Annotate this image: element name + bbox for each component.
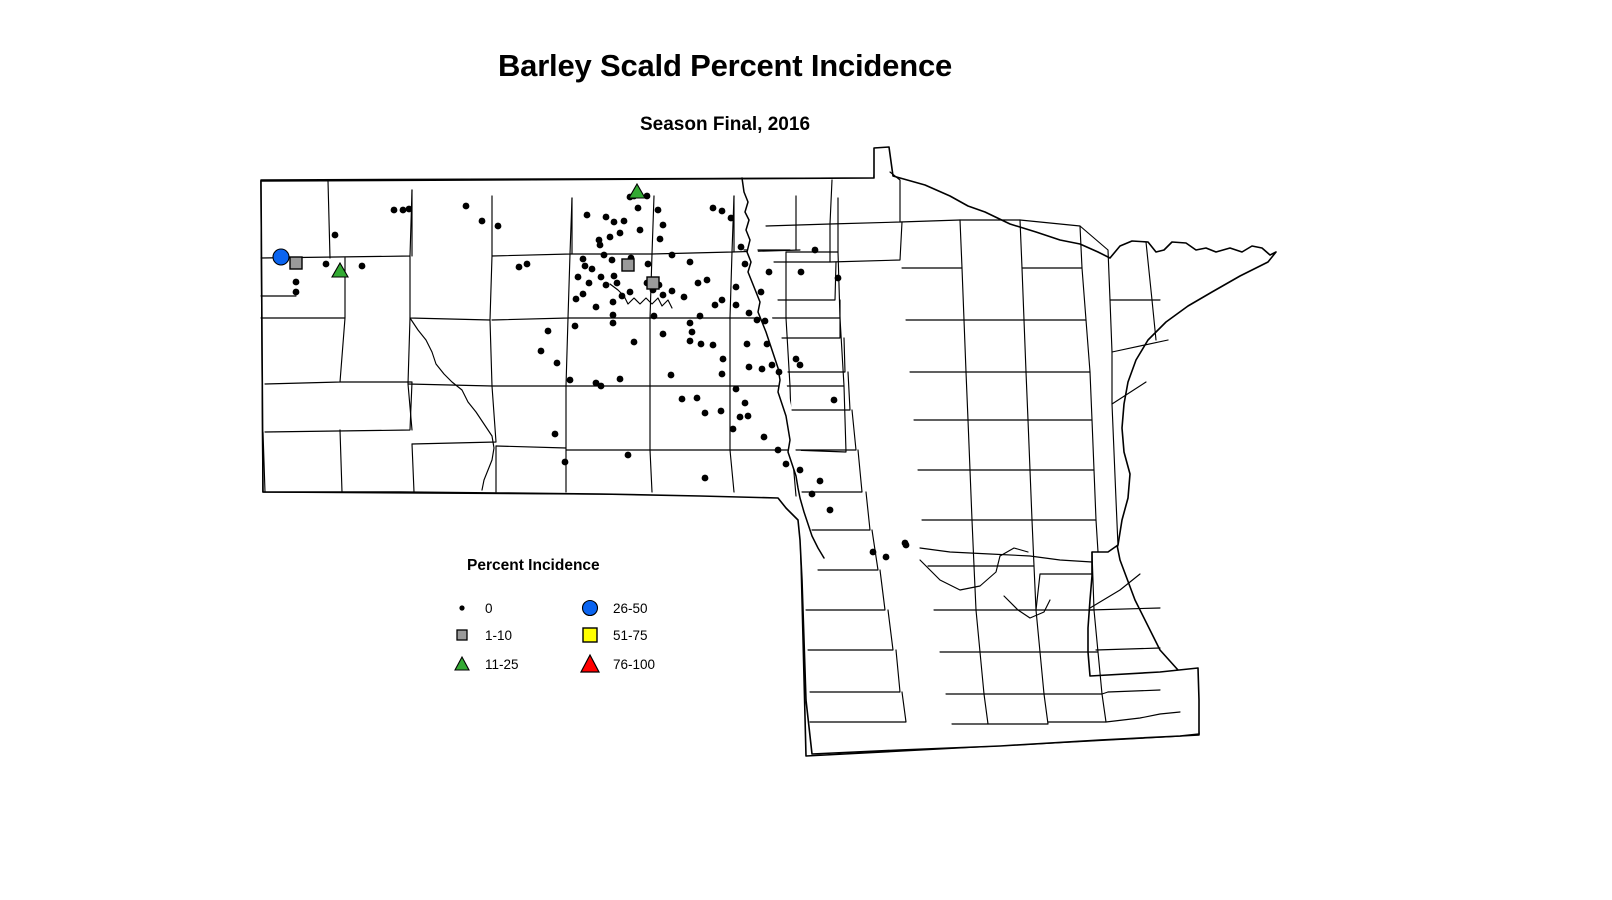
map-point-0: [728, 215, 735, 222]
map-point-0: [687, 338, 694, 345]
map-point-26-50: [273, 249, 289, 265]
map-point-0: [681, 294, 688, 301]
legend-item-26-50: 26-50: [577, 598, 648, 618]
map-point-0: [668, 372, 675, 379]
map-point-0: [538, 348, 545, 355]
legend-item-0: 0: [449, 598, 493, 618]
map-point-0: [603, 282, 610, 289]
map-point-0: [733, 302, 740, 309]
map-point-0: [627, 289, 634, 296]
map-point-0: [593, 304, 600, 311]
map-point-0: [783, 461, 790, 468]
map-point-0: [759, 366, 766, 373]
map-point-0: [745, 413, 752, 420]
map-point-0: [293, 279, 300, 286]
map-point-0: [710, 342, 717, 349]
map-point-0: [323, 261, 330, 268]
map-point-0: [797, 362, 804, 369]
map-point-0: [766, 269, 773, 276]
legend-label-51-75: 51-75: [613, 628, 648, 643]
map-point-0: [596, 237, 603, 244]
legend-item-76-100: 76-100: [577, 654, 655, 674]
map-point-0: [552, 431, 559, 438]
map-point-0: [611, 219, 618, 226]
map-point-0: [332, 232, 339, 239]
map-point-0: [687, 320, 694, 327]
map-point-0: [831, 397, 838, 404]
map-point-0: [704, 277, 711, 284]
map-point-0: [621, 218, 628, 225]
map-point-0: [903, 542, 910, 549]
legend-label-76-100: 76-100: [613, 657, 655, 672]
map-point-0: [793, 356, 800, 363]
map-point-0: [720, 356, 727, 363]
map-point-0: [586, 280, 593, 287]
legend-swatch-gray-square: [449, 625, 475, 645]
map-point-0: [817, 478, 824, 485]
map-point-0: [610, 320, 617, 327]
map-point-0: [293, 289, 300, 296]
map-point-0: [758, 289, 765, 296]
map-point-0: [762, 318, 769, 325]
map-point-0: [562, 459, 569, 466]
map-point-0: [607, 234, 614, 241]
legend-swatch-yellow-square: [577, 623, 603, 647]
map-page: Barley Scald Percent Incidence Season Fi…: [0, 0, 1612, 900]
map-point-0: [463, 203, 470, 210]
map-point-0: [614, 280, 621, 287]
map-point-0: [746, 310, 753, 317]
map-point-0: [479, 218, 486, 225]
map-point-0: [809, 491, 816, 498]
map-point-0: [359, 263, 366, 270]
legend-item-11-25: 11-25: [449, 654, 519, 674]
map-point-0: [737, 414, 744, 421]
map-point-0: [582, 263, 589, 270]
map-point-0: [631, 339, 638, 346]
map-point-0: [657, 236, 664, 243]
map-point-0: [719, 297, 726, 304]
map-point-0: [835, 275, 842, 282]
map-point-0: [697, 313, 704, 320]
map-point-0: [625, 452, 632, 459]
map-point-0: [742, 400, 749, 407]
map-point-0: [733, 284, 740, 291]
map-point-0: [609, 257, 616, 264]
map-point-0: [754, 317, 761, 324]
map-point-1-10: [647, 277, 659, 289]
map-point-0: [694, 395, 701, 402]
legend-swatch-red-triangle: [577, 651, 603, 677]
map-point-0: [573, 296, 580, 303]
map-point-0: [702, 410, 709, 417]
map-point-0: [495, 223, 502, 230]
map-point-0: [669, 252, 676, 259]
map-point-0: [580, 291, 587, 298]
map-point-0: [603, 214, 610, 221]
map-point-0: [572, 323, 579, 330]
map-point-0: [635, 205, 642, 212]
legend: Percent Incidence 0 1-10 11-25 26-50: [455, 548, 755, 688]
map-canvas: [0, 0, 1612, 900]
map-point-0: [660, 292, 667, 299]
map-point-0: [883, 554, 890, 561]
legend-label-1-10: 1-10: [485, 628, 512, 643]
map-point-0: [400, 207, 407, 214]
map-point-0: [718, 408, 725, 415]
map-point-0: [610, 312, 617, 319]
map-point-0: [776, 369, 783, 376]
legend-item-1-10: 1-10: [449, 625, 512, 645]
map-point-0: [746, 364, 753, 371]
map-point-0: [598, 383, 605, 390]
legend-item-51-75: 51-75: [577, 625, 648, 645]
map-point-0: [679, 396, 686, 403]
map-point-0: [651, 313, 658, 320]
map-point-0: [733, 386, 740, 393]
legend-title: Percent Incidence: [467, 557, 600, 575]
map-point-0: [797, 467, 804, 474]
map-point-0: [702, 475, 709, 482]
map-point-0: [689, 329, 696, 336]
legend-label-11-25: 11-25: [485, 657, 519, 672]
map-point-0: [589, 266, 596, 273]
map-point-0: [575, 274, 582, 281]
legend-swatch-green-triangle: [449, 653, 475, 675]
map-point-0: [516, 264, 523, 271]
map-point-0: [812, 247, 819, 254]
map-point-0: [764, 341, 771, 348]
map-point-0: [660, 222, 667, 229]
map-point-0: [601, 252, 608, 259]
map-point-0: [719, 208, 726, 215]
map-point-0: [730, 426, 737, 433]
map-point-0: [611, 273, 618, 280]
map-point-0: [598, 274, 605, 281]
map-point-1-10: [290, 257, 302, 269]
map-point-0: [545, 328, 552, 335]
map-point-0: [761, 434, 768, 441]
legend-swatch-blue-circle: [577, 596, 603, 620]
legend-label-26-50: 26-50: [613, 601, 648, 616]
data-points-26-50: [273, 249, 289, 265]
map-point-0: [406, 206, 413, 213]
map-point-0: [391, 207, 398, 214]
map-point-0: [655, 207, 662, 214]
map-point-0: [580, 256, 587, 263]
map-point-0: [617, 376, 624, 383]
map-point-0: [719, 371, 726, 378]
map-point-0: [738, 244, 745, 251]
map-point-0: [567, 377, 574, 384]
map-point-0: [645, 261, 652, 268]
legend-swatch-dot: [449, 598, 475, 618]
map-point-0: [827, 507, 834, 514]
map-point-0: [712, 302, 719, 309]
map-point-0: [775, 447, 782, 454]
map-point-0: [637, 227, 644, 234]
map-point-0: [610, 299, 617, 306]
map-point-0: [769, 362, 776, 369]
map-point-0: [617, 230, 624, 237]
map-point-0: [554, 360, 561, 367]
map-point-0: [660, 331, 667, 338]
map-point-0: [619, 293, 626, 300]
map-point-1-10: [622, 259, 634, 271]
map-point-0: [584, 212, 591, 219]
map-point-0: [798, 269, 805, 276]
map-point-0: [687, 259, 694, 266]
map-point-0: [695, 280, 702, 287]
legend-label-0: 0: [485, 601, 493, 616]
map-point-0: [744, 341, 751, 348]
map-point-0: [669, 288, 676, 295]
map-point-0: [698, 341, 705, 348]
map-point-0: [524, 261, 531, 268]
map-point-0: [742, 261, 749, 268]
map-point-0: [710, 205, 717, 212]
map-point-0: [870, 549, 877, 556]
